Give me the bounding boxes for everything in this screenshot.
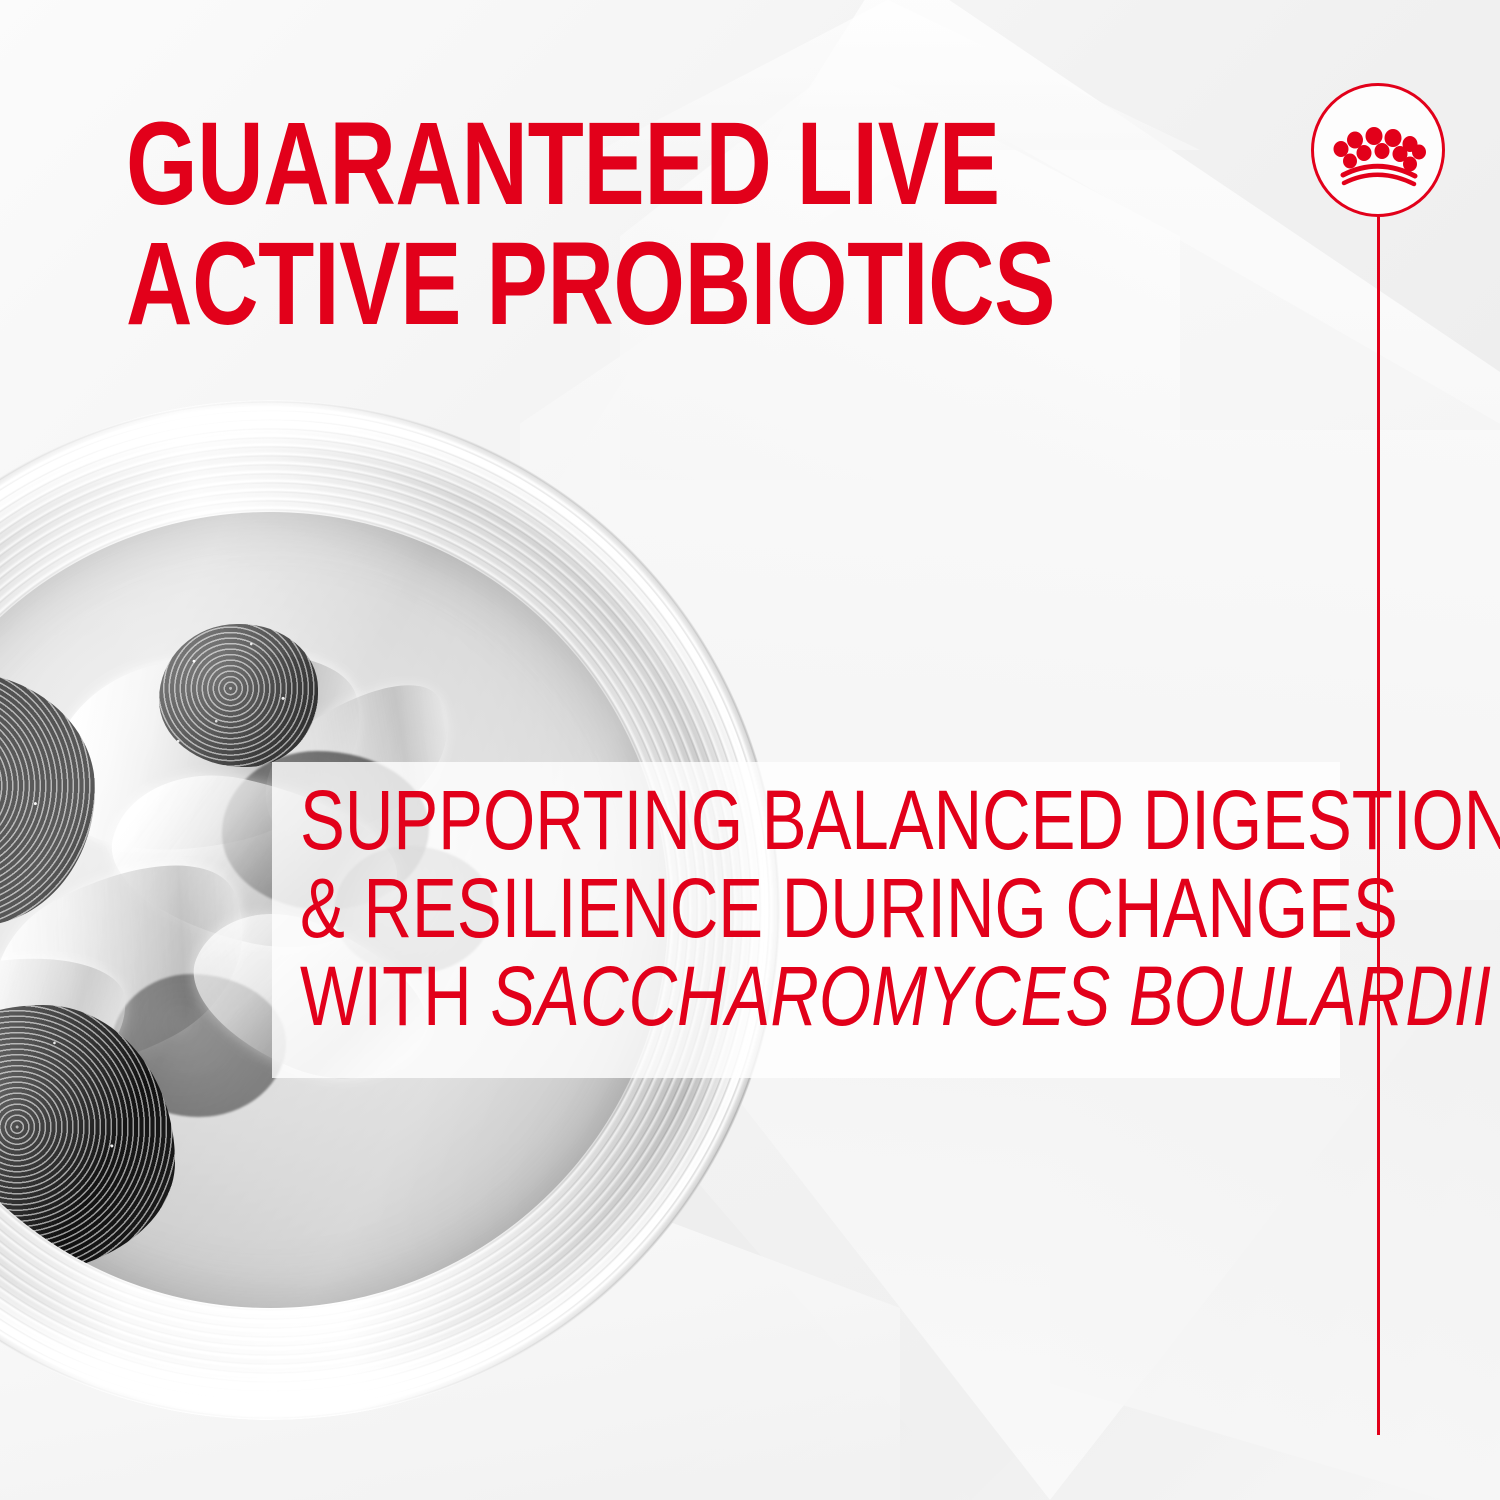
- subhead-line-3: WITH SACCHAROMYCES BOULARDII: [300, 952, 1148, 1040]
- marketing-banner: GUARANTEED LIVE ACTIVE PROBIOTICS: [0, 0, 1500, 1500]
- subhead-species-name: SACCHAROMYCES BOULARDII: [490, 949, 1491, 1043]
- subhead-line-3-prefix: WITH: [300, 949, 490, 1043]
- subhead-text: SUPPORTING BALANCED DIGESTION & RESILIEN…: [300, 776, 1148, 1040]
- crown-icon: [1311, 83, 1445, 217]
- headline-line-2: ACTIVE PROBIOTICS: [126, 224, 1000, 344]
- royal-canin-crown-logo: [1311, 83, 1445, 217]
- subhead-line-2: & RESILIENCE DURING CHANGES: [300, 864, 1148, 952]
- headline-line-1: GUARANTEED LIVE: [126, 104, 1000, 224]
- subhead-line-1: SUPPORTING BALANCED DIGESTION: [300, 776, 1148, 864]
- broccoli-floret: [159, 624, 318, 767]
- page-title: GUARANTEED LIVE ACTIVE PROBIOTICS: [126, 104, 1000, 344]
